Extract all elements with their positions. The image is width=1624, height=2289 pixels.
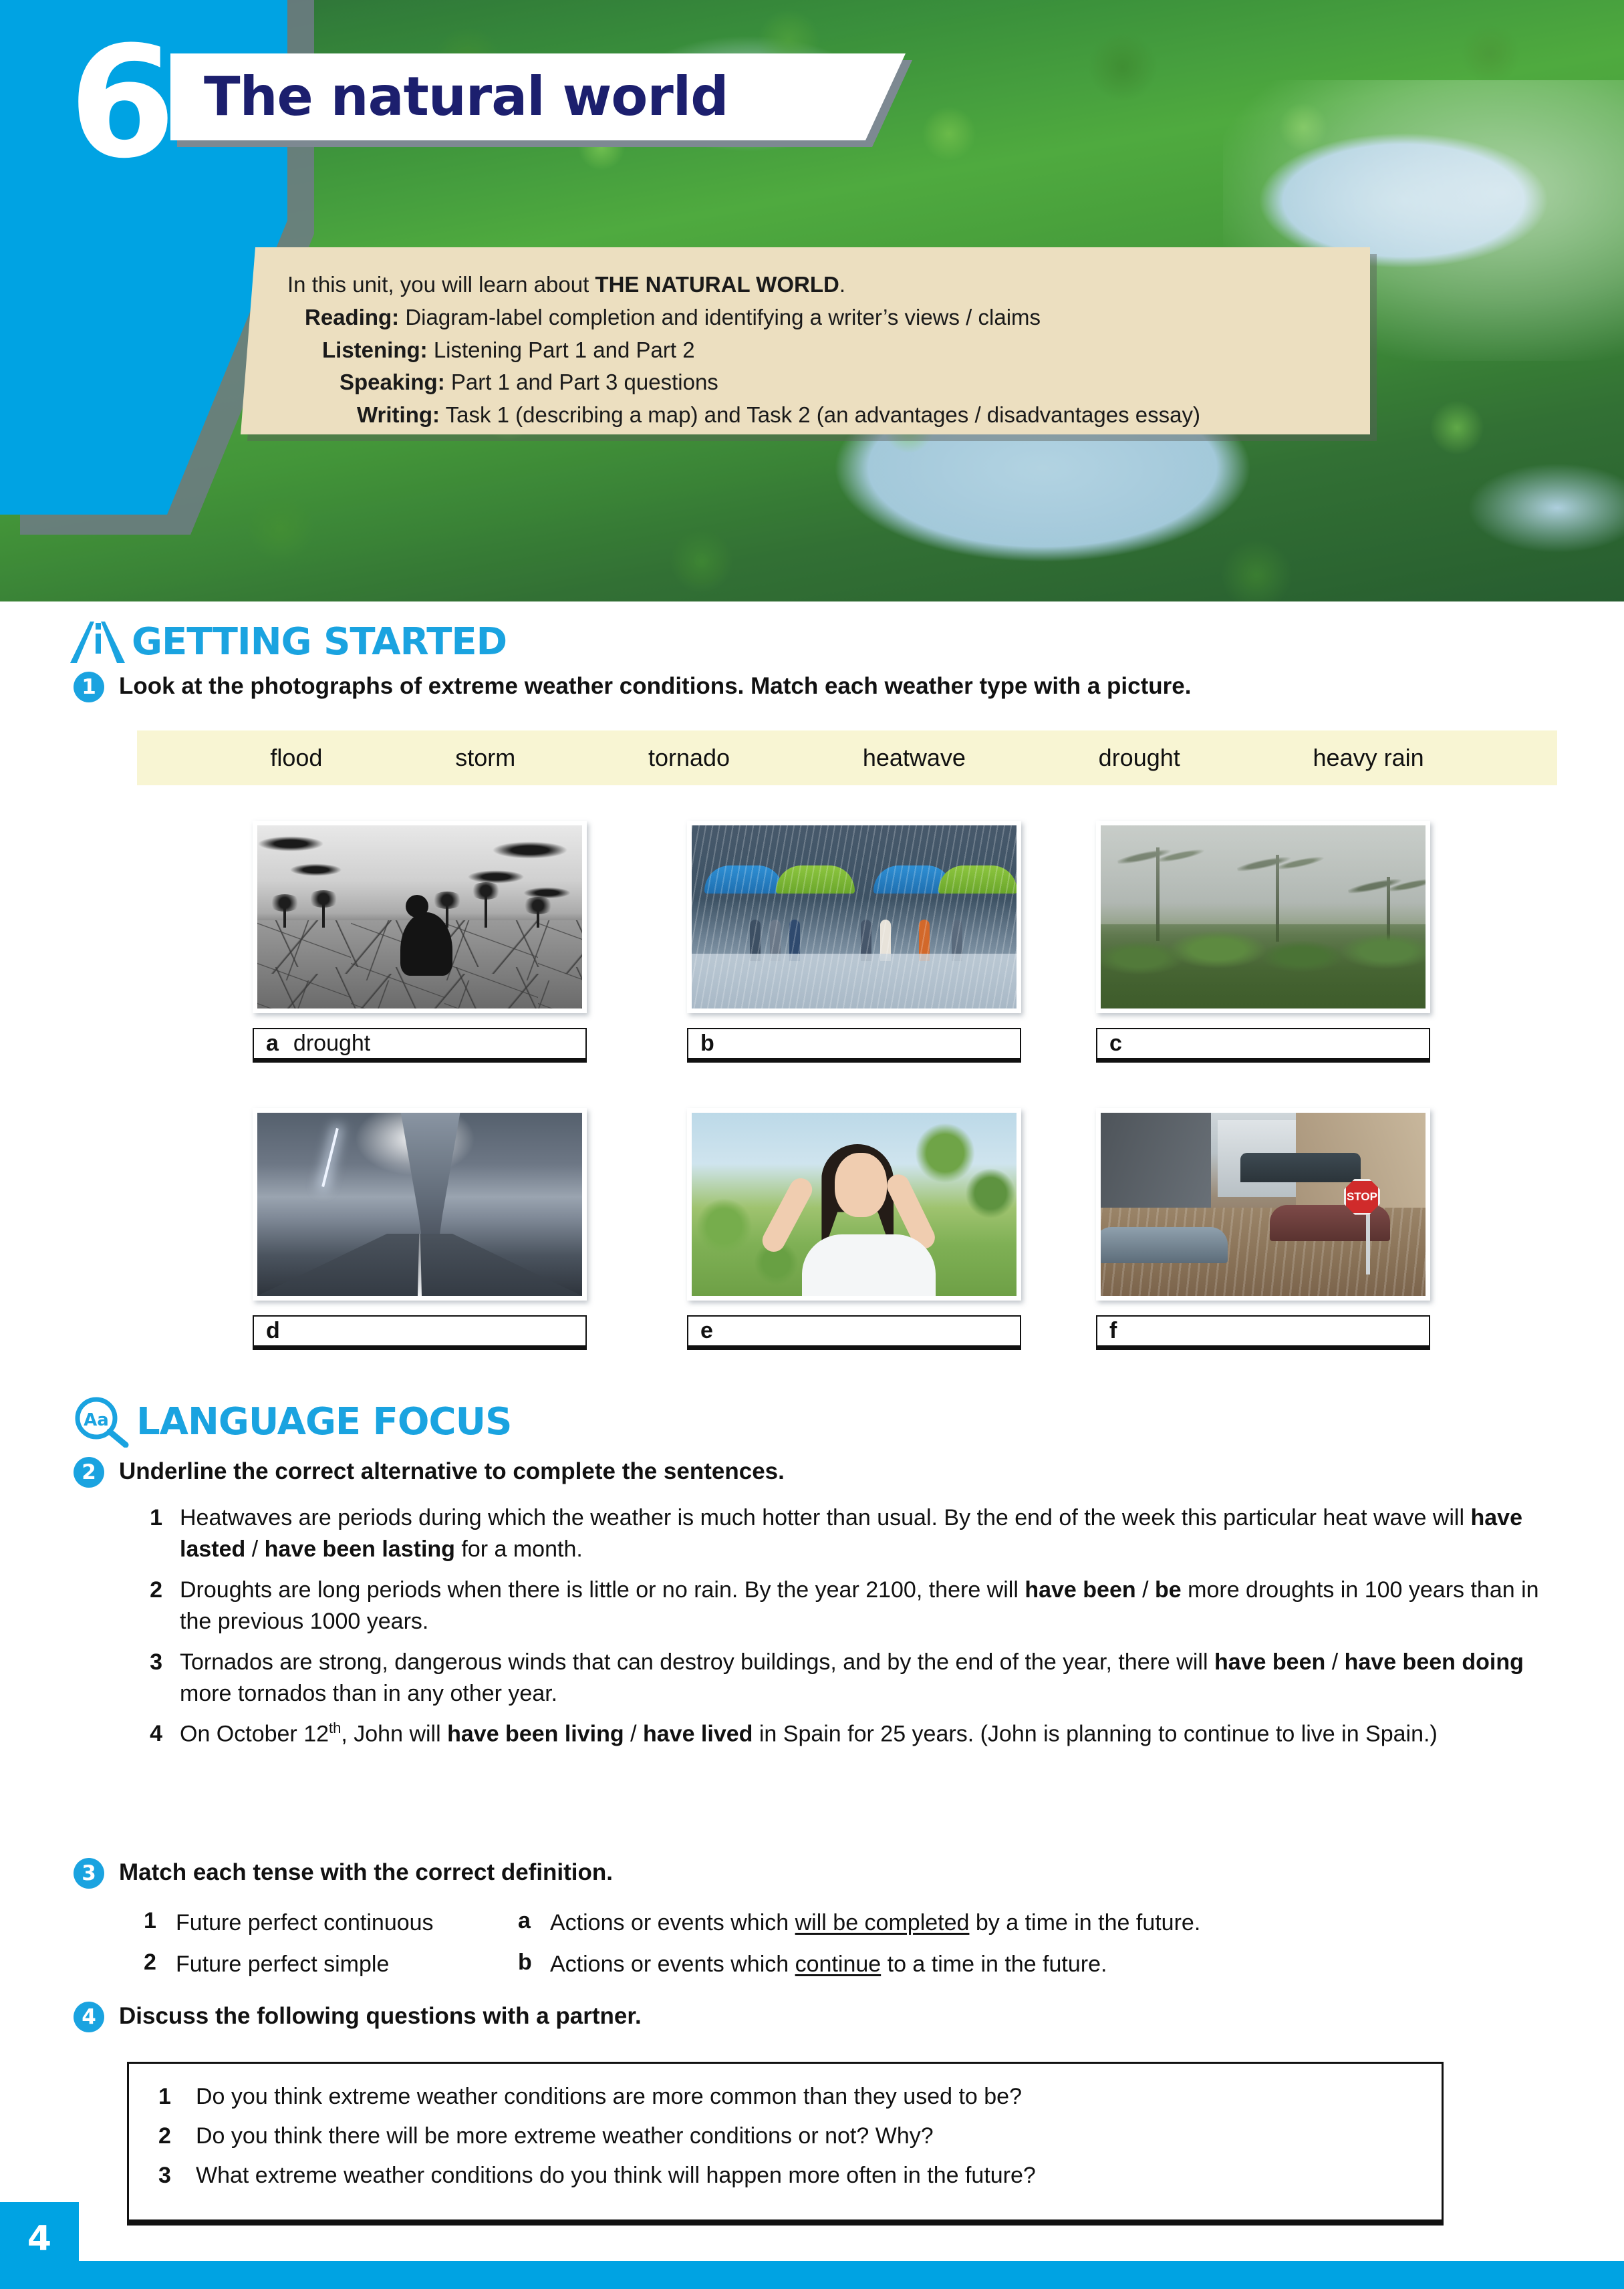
info-row-speaking-text: Part 1 and Part 3 questions <box>451 370 718 394</box>
item-text[interactable]: Droughts are long periods when there is … <box>180 1575 1567 1637</box>
exercise-1-badge: 1 <box>74 672 104 702</box>
photo-card-e: e <box>687 1108 1021 1350</box>
answer-letter-f: f <box>1109 1318 1117 1344</box>
heatwave-photo <box>692 1113 1017 1296</box>
sentence-part: On October 12 <box>180 1722 329 1747</box>
separator: / <box>1136 1577 1155 1603</box>
info-intro-prefix: In this unit, you will learn about <box>287 272 595 297</box>
question-number: 3 <box>158 2163 173 2189</box>
alternative-option[interactable]: have been lasting <box>265 1536 455 1562</box>
tense-number: 1 <box>144 1908 158 1937</box>
match-row-2: 2 Future perfect simple b Actions or eve… <box>144 1949 1581 1979</box>
info-row-listening-text: Listening Part 1 and Part 2 <box>434 338 695 362</box>
tense-label[interactable]: Future perfect simple <box>176 1949 389 1979</box>
definition-underlined: continue <box>795 1951 882 1977</box>
definition-a[interactable]: a Actions or events which will be comple… <box>518 1908 1200 1937</box>
match-row-1: 1 Future perfect continuous a Actions or… <box>144 1908 1581 1937</box>
photo-frame-f: STOP <box>1096 1108 1430 1301</box>
photo-card-a: a drought <box>253 821 587 1063</box>
word-bank-item-heatwave[interactable]: heatwave <box>796 744 1032 772</box>
sentence-part: Heatwaves are periods during which the w… <box>180 1505 1470 1530</box>
info-row-speaking-label: Speaking: <box>340 370 445 394</box>
sentence-part: Droughts are long periods when there is … <box>180 1577 1025 1603</box>
word-bank-item-tornado[interactable]: tornado <box>582 744 797 772</box>
info-row-reading-text: Diagram-label completion and identifying… <box>405 305 1041 329</box>
definition-b[interactable]: b Actions or events which continue to a … <box>518 1949 1107 1979</box>
sentence-part: more tornados than in any other year. <box>180 1681 557 1706</box>
word-bank-item-flood[interactable]: flood <box>204 744 389 772</box>
info-intro-topic: THE NATURAL WORLD <box>595 272 839 297</box>
section-language-focus-title: LANGUAGE FOCUS <box>136 1403 511 1441</box>
answer-letter-b: b <box>700 1031 714 1057</box>
item-number: 2 <box>144 1575 162 1637</box>
info-intro-suffix: . <box>839 272 845 297</box>
separator: / <box>1325 1649 1344 1675</box>
item-text[interactable]: On October 12th, John will have been liv… <box>180 1718 1438 1750</box>
photo-card-c: c <box>1096 821 1430 1063</box>
definition-key: a <box>518 1908 533 1937</box>
sentence-part: , John will <box>341 1722 447 1747</box>
exercise-2-item-4: 4 On October 12th, John will have been l… <box>144 1718 1567 1750</box>
answer-box-f[interactable]: f <box>1096 1315 1430 1350</box>
answer-box-c[interactable]: c <box>1096 1028 1430 1063</box>
section-getting-started-title: GETTING STARTED <box>132 624 507 661</box>
answer-letter-c: c <box>1109 1031 1122 1057</box>
exercise-3-matching: 1 Future perfect continuous a Actions or… <box>144 1908 1581 1991</box>
answer-box-a[interactable]: a drought <box>253 1028 587 1063</box>
question-number: 1 <box>158 2084 173 2110</box>
question-text: What extreme weather conditions do you t… <box>196 2163 1036 2189</box>
exercise-2-item-1: 1 Heatwaves are periods during which the… <box>144 1502 1567 1565</box>
info-row-writing-label: Writing: <box>357 402 440 427</box>
alternative-option[interactable]: have been doing <box>1345 1649 1524 1675</box>
info-intro-line: In this unit, you will learn about THE N… <box>287 269 1343 301</box>
separator: / <box>624 1722 643 1747</box>
word-bank-item-storm[interactable]: storm <box>389 744 582 772</box>
definition-text[interactable]: Actions or events which continue to a ti… <box>550 1949 1107 1979</box>
exercise-3: 3 Match each tense with the correct defi… <box>74 1858 1577 1889</box>
photo-frame-e <box>687 1108 1021 1301</box>
photo-frame-a <box>253 821 587 1013</box>
tense-1[interactable]: 1 Future perfect continuous <box>144 1908 518 1937</box>
drought-photo <box>257 825 582 1008</box>
definition-after: by a time in the future. <box>969 1910 1200 1935</box>
unit-overview-box: In this unit, you will learn about THE N… <box>241 247 1370 434</box>
question-number: 2 <box>158 2123 173 2149</box>
exercise-3-badge: 3 <box>74 1858 104 1889</box>
discussion-questions-box: 1 Do you think extreme weather condition… <box>127 2062 1444 2226</box>
exercise-2-item-3: 3 Tornados are strong, dangerous winds t… <box>144 1647 1567 1710</box>
word-bank-item-heavy-rain[interactable]: heavy rain <box>1246 744 1490 772</box>
info-row-listening: Listening: Listening Part 1 and Part 2 <box>287 334 1343 367</box>
answer-box-d[interactable]: d <box>253 1315 587 1350</box>
question-text: Do you think there will be more extreme … <box>196 2123 934 2149</box>
item-text[interactable]: Tornados are strong, dangerous winds tha… <box>180 1647 1567 1710</box>
item-text[interactable]: Heatwaves are periods during which the w… <box>180 1502 1567 1565</box>
photo-frame-d <box>253 1108 587 1301</box>
exercise-3-prompt: Match each tense with the correct defini… <box>119 1858 613 1887</box>
answer-letter-d: d <box>266 1318 280 1344</box>
tense-2[interactable]: 2 Future perfect simple <box>144 1949 518 1979</box>
exercise-4-badge: 4 <box>74 2002 104 2032</box>
unit-title-banner: The natural world <box>170 53 906 140</box>
info-row-speaking: Speaking: Part 1 and Part 3 questions <box>287 366 1343 399</box>
definition-underlined: will be completed <box>795 1910 970 1935</box>
photo-card-b: b <box>687 821 1021 1063</box>
section-getting-started: GETTING STARTED <box>70 622 507 663</box>
question-text: Do you think extreme weather conditions … <box>196 2084 1022 2110</box>
tornado-photo <box>257 1113 582 1296</box>
exercise-2-badge: 2 <box>74 1457 104 1488</box>
exercise-2-item-2: 2 Droughts are long periods when there i… <box>144 1575 1567 1637</box>
discussion-question-2: 2 Do you think there will be more extrem… <box>158 2123 1415 2149</box>
sentence-part: Tornados are strong, dangerous winds tha… <box>180 1649 1214 1675</box>
alternative-option[interactable]: have been <box>1025 1577 1135 1603</box>
exercise-1: 1 Look at the photographs of extreme wea… <box>74 672 1577 702</box>
photo-card-d: d <box>253 1108 587 1350</box>
definition-before: Actions or events which <box>550 1910 795 1935</box>
ordinal-suffix: th <box>329 1720 341 1736</box>
flood-photo: STOP <box>1101 1113 1426 1296</box>
photo-frame-c <box>1096 821 1430 1013</box>
item-number: 3 <box>144 1647 162 1710</box>
definition-text[interactable]: Actions or events which will be complete… <box>550 1908 1200 1937</box>
answer-letter-a: a <box>266 1031 279 1057</box>
info-row-reading: Reading: Diagram-label completion and id… <box>287 301 1343 334</box>
sentence-part: in Spain for 25 years. (John is planning… <box>753 1722 1437 1747</box>
info-path-icon <box>70 622 125 663</box>
answer-value-a[interactable]: drought <box>293 1031 370 1057</box>
exercise-4: 4 Discuss the following questions with a… <box>74 2002 1577 2032</box>
definition-before: Actions or events which <box>550 1951 795 1977</box>
exercise-2: 2 Underline the correct alternative to c… <box>74 1457 1577 1488</box>
heavy-rain-photo <box>692 825 1017 1008</box>
exercise-2-items: 1 Heatwaves are periods during which the… <box>144 1502 1567 1760</box>
svg-text:Aa: Aa <box>84 1410 109 1430</box>
answer-letter-e: e <box>700 1318 713 1344</box>
exercise-2-prompt: Underline the correct alternative to com… <box>119 1457 785 1486</box>
magnifier-aa-icon: Aa <box>72 1397 130 1448</box>
definition-key: b <box>518 1949 533 1979</box>
discussion-question-3: 3 What extreme weather conditions do you… <box>158 2163 1415 2189</box>
separator: / <box>245 1536 264 1562</box>
page-number: 4 <box>0 2202 79 2276</box>
sentence-part: for a month. <box>455 1536 583 1562</box>
info-row-writing-text: Task 1 (describing a map) and Task 2 (an… <box>446 402 1200 427</box>
exercise-4-prompt: Discuss the following questions with a p… <box>119 2002 642 2031</box>
footer-bar <box>0 2261 1624 2289</box>
alternative-option[interactable]: have been <box>1214 1649 1325 1675</box>
alternative-option[interactable]: have been living <box>447 1722 624 1747</box>
info-row-reading-label: Reading: <box>305 305 399 329</box>
tense-label[interactable]: Future perfect continuous <box>176 1908 434 1937</box>
page-title: The natural world <box>170 70 728 124</box>
section-language-focus: Aa LANGUAGE FOCUS <box>72 1397 511 1448</box>
answer-box-b[interactable]: b <box>687 1028 1021 1063</box>
storm-photo <box>1101 825 1426 1008</box>
word-bank-item-drought[interactable]: drought <box>1032 744 1246 772</box>
exercise-1-prompt: Look at the photographs of extreme weath… <box>119 672 1191 701</box>
item-number: 1 <box>144 1502 162 1565</box>
answer-box-e[interactable]: e <box>687 1315 1021 1350</box>
alternative-option[interactable]: have lived <box>643 1722 753 1747</box>
item-number: 4 <box>144 1718 162 1750</box>
info-row-writing: Writing: Task 1 (describing a map) and T… <box>287 399 1343 432</box>
info-row-listening-label: Listening: <box>322 338 428 362</box>
photo-frame-b <box>687 821 1021 1013</box>
alternative-option[interactable]: be <box>1155 1577 1182 1603</box>
photo-card-f: STOP f <box>1096 1108 1430 1350</box>
word-bank: flood storm tornado heatwave drought hea… <box>137 730 1557 785</box>
discussion-question-1: 1 Do you think extreme weather condition… <box>158 2084 1415 2110</box>
tense-number: 2 <box>144 1949 158 1979</box>
definition-after: to a time in the future. <box>881 1951 1107 1977</box>
